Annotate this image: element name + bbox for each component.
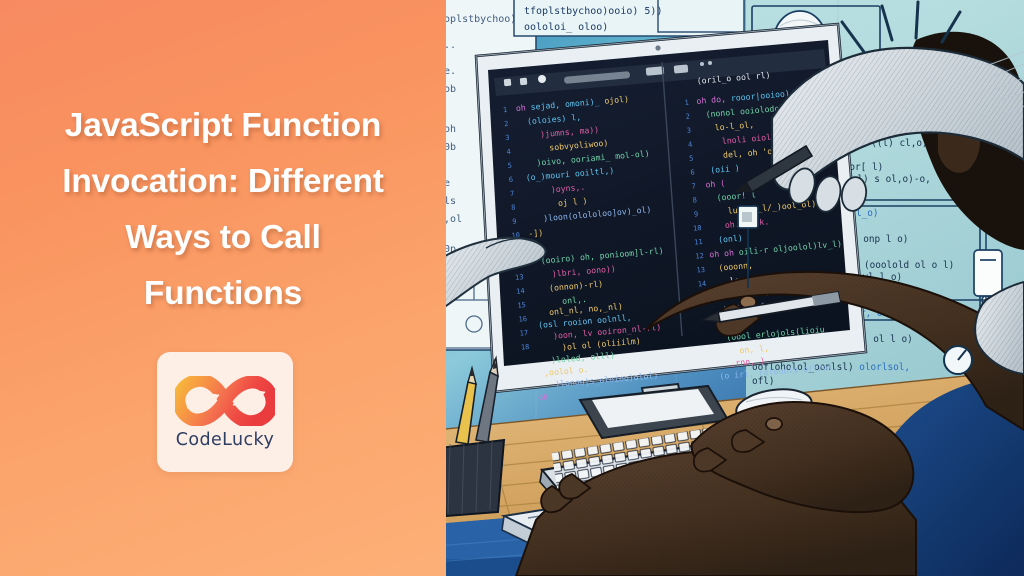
svg-text:16: 16 bbox=[518, 315, 527, 324]
brand-wordmark: CodeLucky bbox=[176, 430, 274, 450]
svg-text:s5ls: s5ls bbox=[446, 196, 456, 207]
svg-text:oh: oh bbox=[538, 392, 549, 403]
illustration-artwork: tfoplstbychoo)oo r5.. ioe. loob l looh 4… bbox=[446, 0, 1024, 576]
svg-text:15: 15 bbox=[517, 301, 526, 310]
svg-text:14: 14 bbox=[697, 280, 706, 289]
svg-text:3: 3 bbox=[505, 134, 510, 142]
svg-text:5: 5 bbox=[689, 154, 694, 162]
page-title: JavaScript Function Invocation: Differen… bbox=[37, 98, 409, 322]
svg-text:4j0b: 4j0b bbox=[446, 142, 456, 153]
title-line-3: Ways to Call bbox=[125, 219, 321, 256]
svg-text:oololoi_ oloo): oololoi_ oloo) bbox=[524, 22, 608, 33]
svg-text:18: 18 bbox=[521, 343, 530, 352]
svg-text:1: 1 bbox=[503, 106, 508, 114]
hero-illustration: tfoplstbychoo)oo r5.. ioe. loob l looh 4… bbox=[446, 0, 1024, 576]
brand-logo-card[interactable]: CodeLucky bbox=[157, 352, 293, 472]
social-share-banner: JavaScript Function Invocation: Differen… bbox=[0, 0, 1024, 576]
svg-text:11: 11 bbox=[694, 238, 703, 247]
svg-text:13: 13 bbox=[696, 266, 705, 275]
webcam-icon bbox=[655, 45, 660, 50]
svg-text:7: 7 bbox=[691, 182, 696, 190]
svg-text:2: 2 bbox=[685, 113, 690, 121]
svg-text:-]): -]) bbox=[528, 227, 544, 238]
svg-text:r5..: r5.. bbox=[446, 40, 456, 51]
svg-text:1: 1 bbox=[684, 99, 689, 107]
svg-text:9: 9 bbox=[694, 210, 699, 218]
svg-text:2: 2 bbox=[504, 120, 509, 128]
svg-text:obe: obe bbox=[446, 178, 450, 189]
title-line-1: JavaScript Function bbox=[65, 107, 381, 144]
title-line-4: Functions bbox=[144, 275, 302, 312]
infinity-leaf-icon bbox=[175, 374, 275, 428]
svg-text:7: 7 bbox=[510, 190, 515, 198]
svg-text:10: 10 bbox=[693, 224, 702, 233]
svg-text:4: 4 bbox=[688, 140, 693, 148]
svg-text:ioe.: ioe. bbox=[446, 66, 456, 77]
svg-text:tfoplstbychoo)ooio) 5)): tfoplstbychoo)ooio) 5)) bbox=[524, 6, 662, 17]
svg-text:17: 17 bbox=[519, 329, 528, 338]
svg-text:8: 8 bbox=[511, 204, 516, 212]
title-panel: JavaScript Function Invocation: Differen… bbox=[0, 0, 446, 576]
svg-text:14: 14 bbox=[516, 287, 525, 296]
svg-text:oh (: oh ( bbox=[705, 178, 725, 190]
svg-text:6: 6 bbox=[509, 176, 514, 184]
svg-text:5: 5 bbox=[507, 162, 512, 170]
svg-text:(onl): (onl) bbox=[718, 233, 743, 245]
svg-text:2_,ol: 2_,ol bbox=[446, 214, 462, 225]
svg-text:looh: looh bbox=[446, 124, 456, 135]
svg-text:6: 6 bbox=[690, 168, 695, 176]
svg-text:3: 3 bbox=[687, 127, 692, 135]
svg-text:12: 12 bbox=[695, 252, 704, 261]
gauge-icon bbox=[944, 346, 972, 374]
title-line-2: Invocation: Different bbox=[62, 163, 384, 200]
phone-icon bbox=[974, 250, 1002, 296]
svg-text:8: 8 bbox=[692, 196, 697, 204]
svg-text:9: 9 bbox=[512, 218, 517, 226]
svg-text:13: 13 bbox=[515, 273, 524, 282]
svg-text:4: 4 bbox=[506, 148, 511, 156]
svg-text:loob: loob bbox=[446, 84, 456, 95]
